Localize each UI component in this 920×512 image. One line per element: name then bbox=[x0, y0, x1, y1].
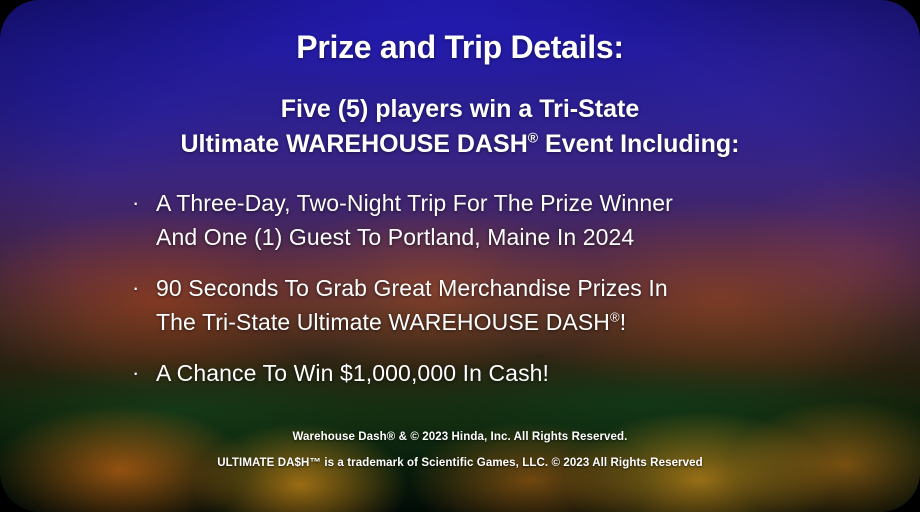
subheadline-line-2-text: Ultimate WAREHOUSE DASH bbox=[181, 130, 528, 158]
subheadline: Five (5) players win a Tri-State Ultimat… bbox=[0, 92, 920, 162]
bullet-dot-icon: · bbox=[132, 356, 156, 390]
legal-line-1: Warehouse Dash® & © 2023 Hinda, Inc. All… bbox=[0, 424, 920, 450]
list-item-line-2-tail: ! bbox=[620, 309, 627, 335]
list-item-text: A Three-Day, Two-Night Trip For The Priz… bbox=[156, 186, 860, 254]
registered-trademark-icon: ® bbox=[610, 309, 620, 324]
registered-trademark-icon: ® bbox=[528, 130, 538, 146]
page-title: Prize and Trip Details: bbox=[0, 29, 920, 66]
subheadline-line-2: Ultimate WAREHOUSE DASH® Event Including… bbox=[0, 127, 920, 162]
legal-line-2: ULTIMATE DA$H™ is a trademark of Scienti… bbox=[0, 450, 920, 476]
list-item: · A Chance To Win $1,000,000 In Cash! bbox=[132, 356, 860, 390]
card-content: Prize and Trip Details: Five (5) players… bbox=[0, 0, 920, 512]
list-item-line-1: A Three-Day, Two-Night Trip For The Priz… bbox=[156, 186, 860, 220]
bullet-dot-icon: · bbox=[132, 186, 156, 220]
prize-bullet-list: · A Three-Day, Two-Night Trip For The Pr… bbox=[132, 186, 860, 390]
list-item-text: 90 Seconds To Grab Great Merchandise Pri… bbox=[156, 271, 860, 339]
list-item-line-2-text: The Tri-State Ultimate WAREHOUSE DASH bbox=[156, 309, 610, 335]
list-item-line-1: 90 Seconds To Grab Great Merchandise Pri… bbox=[156, 271, 860, 305]
list-item-line-1: A Chance To Win $1,000,000 In Cash! bbox=[156, 356, 860, 390]
subheadline-line-1: Five (5) players win a Tri-State bbox=[0, 92, 920, 127]
list-item-line-2: The Tri-State Ultimate WAREHOUSE DASH®! bbox=[156, 305, 860, 339]
list-item: · 90 Seconds To Grab Great Merchandise P… bbox=[132, 271, 860, 339]
promo-card: Prize and Trip Details: Five (5) players… bbox=[0, 0, 920, 512]
list-item-line-2: And One (1) Guest To Portland, Maine In … bbox=[156, 220, 860, 254]
list-item-text: A Chance To Win $1,000,000 In Cash! bbox=[156, 356, 860, 390]
bullet-dot-icon: · bbox=[132, 271, 156, 305]
legal-disclaimer: Warehouse Dash® & © 2023 Hinda, Inc. All… bbox=[0, 424, 920, 476]
subheadline-line-2-tail: Event Including: bbox=[538, 130, 739, 158]
list-item: · A Three-Day, Two-Night Trip For The Pr… bbox=[132, 186, 860, 254]
